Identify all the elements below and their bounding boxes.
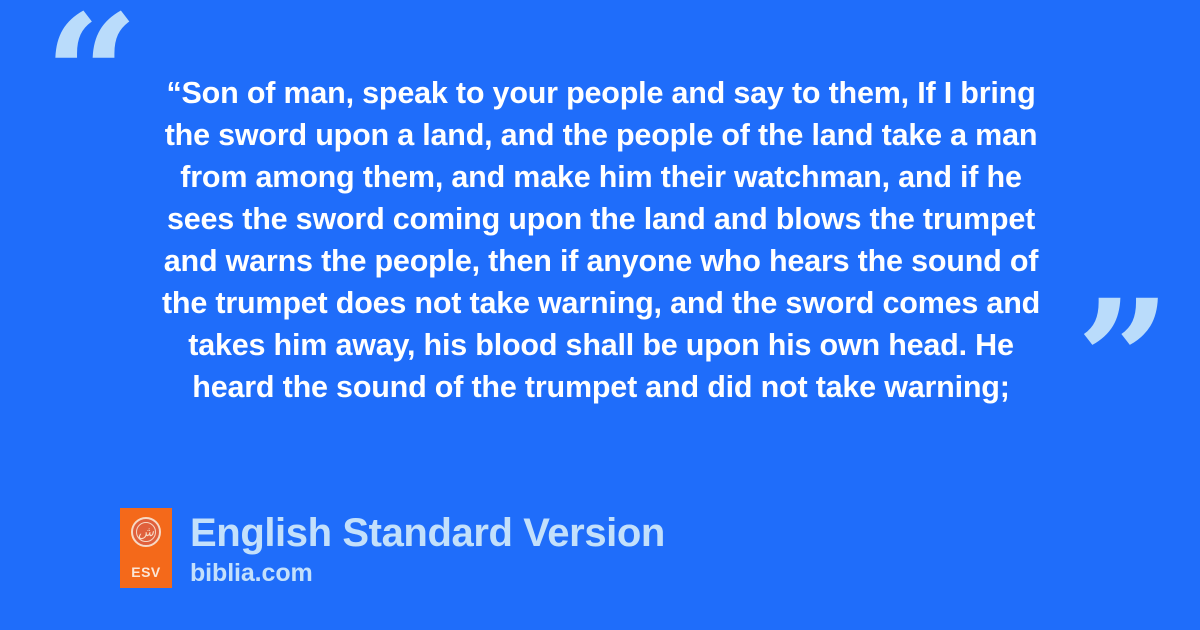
decorative-close-quote-icon: ” <box>1076 278 1171 443</box>
esv-seal-glyph: ش <box>138 526 154 539</box>
verse-quote-card: “ “Son of man, speak to your people and … <box>0 0 1200 630</box>
brand-text-group: English Standard Version biblia.com <box>190 508 665 588</box>
website-label[interactable]: biblia.com <box>190 558 665 588</box>
esv-logo: ش ESV <box>120 508 172 588</box>
quote-line: the trumpet does not take warning, and t… <box>110 282 1092 324</box>
quote-line: “Son of man, speak to your people and sa… <box>110 72 1092 114</box>
quote-line: and warns the people, then if anyone who… <box>110 240 1092 282</box>
quote-text-block: “Son of man, speak to your people and sa… <box>110 72 1092 408</box>
quote-line: from among them, and make him their watc… <box>110 156 1092 198</box>
quote-line: sees the sword coming upon the land and … <box>110 198 1092 240</box>
quote-line: takes him away, his blood shall be upon … <box>110 324 1092 366</box>
bible-version-title: English Standard Version <box>190 510 665 556</box>
quote-line: the sword upon a land, and the people of… <box>110 114 1092 156</box>
esv-seal-icon: ش <box>131 517 161 547</box>
branding-footer: ش ESV English Standard Version biblia.co… <box>120 508 665 588</box>
esv-logo-label: ESV <box>131 564 161 580</box>
quote-line: heard the sound of the trumpet and did n… <box>110 366 1092 408</box>
